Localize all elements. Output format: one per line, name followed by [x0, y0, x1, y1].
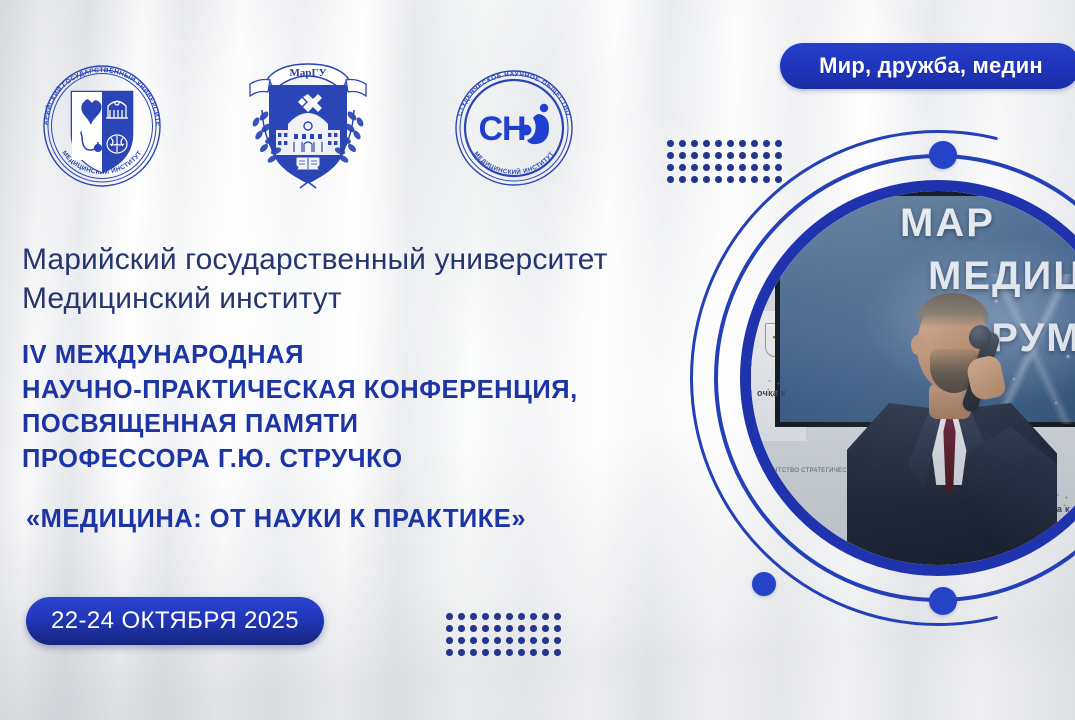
decorative-dot — [446, 625, 453, 632]
margu-coat-of-arms-logo: МарГУ — [242, 40, 374, 192]
decorative-dot — [470, 649, 477, 656]
decorative-dot — [494, 649, 501, 656]
conference-subtitle: «МЕДИЦИНА: ОТ НАУКИ К ПРАКТИКЕ» — [26, 505, 726, 534]
photo-screen-text-1: МАР — [900, 201, 995, 246]
decorative-dot — [530, 649, 537, 656]
decorative-dot — [679, 176, 686, 183]
decorative-dot — [518, 625, 525, 632]
organization-line-1: Марийский государственный университет — [22, 240, 722, 279]
decorative-dot — [446, 613, 453, 620]
decorative-dot — [446, 649, 453, 656]
organization-block: Марийский государственный университет Ме… — [22, 240, 722, 318]
decorative-dot — [506, 637, 513, 644]
decorative-dot — [679, 140, 686, 147]
conference-title: IV МЕЖДУНАРОДНАЯ НАУЧНО-ПРАКТИЧЕСКАЯ КОН… — [22, 338, 742, 477]
decorative-dot — [554, 625, 561, 632]
decorative-dot — [518, 637, 525, 644]
title-line-2: НАУЧНО-ПРАКТИЧЕСКАЯ КОНФЕРЕНЦИЯ, — [22, 373, 742, 408]
decorative-dot — [446, 637, 453, 644]
photo-speaker-ear — [911, 335, 924, 355]
margu-medical-institute-logo: МАРИЙСКИЙ ГОСУДАРСТВЕННЫЙ УНИВЕРСИТЕТ МЕ… — [32, 56, 172, 196]
decorative-dot — [482, 625, 489, 632]
decorative-dot — [542, 625, 549, 632]
decorative-dot — [470, 637, 477, 644]
decorative-dot — [482, 613, 489, 620]
decorative-dot — [667, 152, 674, 159]
decorative-dot — [470, 613, 477, 620]
decorative-dot — [542, 637, 549, 644]
speaker-photo: МАР МЕДИЦ ФОРУМ очка к очка к АГЕНТСТВО … — [751, 191, 1075, 565]
decorative-dot — [679, 152, 686, 159]
decorative-dot — [667, 140, 674, 147]
decorative-dot — [506, 625, 513, 632]
title-line-3: ПОСВЯЩЕННАЯ ПАМЯТИ — [22, 407, 742, 442]
svg-text:МарГУ: МарГУ — [289, 67, 326, 79]
decorative-dot — [518, 613, 525, 620]
decorative-dot — [482, 637, 489, 644]
decorative-dot-grid-bottom — [446, 613, 561, 656]
decorative-dot-top — [929, 141, 957, 169]
organization-line-2: Медицинский институт — [22, 279, 722, 318]
decorative-dot — [458, 625, 465, 632]
sno-logo: СТУДЕНЧЕСКОЕ НАУЧНОЕ ОБЩЕСТВО МЕДИЦИНСКИ… — [444, 62, 584, 194]
decorative-dot — [530, 613, 537, 620]
photo-sponsor-label-left: очка к — [757, 387, 786, 401]
svg-text:СН: СН — [478, 110, 525, 148]
decorative-dot — [506, 613, 513, 620]
decorative-dot — [554, 649, 561, 656]
decorative-dot — [482, 649, 489, 656]
decorative-dot — [679, 164, 686, 171]
decorative-dot — [470, 625, 477, 632]
conference-poster: МАРИЙСКИЙ ГОСУДАРСТВЕННЫЙ УНИВЕРСИТЕТ МЕ… — [0, 0, 1075, 720]
decorative-dot — [530, 625, 537, 632]
decorative-dot — [554, 637, 561, 644]
decorative-dot — [542, 613, 549, 620]
decorative-dot — [530, 637, 537, 644]
title-line-1: IV МЕЖДУНАРОДНАЯ — [22, 338, 742, 373]
title-line-4: ПРОФЕССОРА Г.Ю. СТРУЧКО — [22, 442, 742, 477]
decorative-dot — [667, 176, 674, 183]
decorative-dot — [554, 613, 561, 620]
decorative-dot — [518, 649, 525, 656]
decorative-dot-bottom — [929, 587, 957, 615]
logo-row: МАРИЙСКИЙ ГОСУДАРСТВЕННЫЙ УНИВЕРСИТЕТ МЕ… — [0, 0, 620, 210]
speaker-photo-cluster: МАР МЕДИЦ ФОРУМ очка к очка к АГЕНТСТВО … — [688, 128, 1075, 628]
decorative-dot — [494, 625, 501, 632]
slogan-badge[interactable]: Мир, дружба, медин — [780, 43, 1075, 89]
photo-speaker-hair — [917, 293, 989, 327]
decorative-dot — [542, 649, 549, 656]
decorative-dot — [667, 164, 674, 171]
decorative-dot — [458, 637, 465, 644]
date-badge-label: 22-24 ОКТЯБРЯ 2025 — [51, 607, 299, 635]
decorative-dot — [506, 649, 513, 656]
decorative-dot-left — [752, 572, 776, 596]
photo-speaker — [847, 287, 1057, 565]
decorative-dot — [458, 613, 465, 620]
slogan-badge-label: Мир, дружба, медин — [819, 53, 1043, 79]
decorative-dot — [494, 637, 501, 644]
subtitle-text: «МЕДИЦИНА: ОТ НАУКИ К ПРАКТИКЕ» — [26, 505, 726, 534]
decorative-dot — [458, 649, 465, 656]
decorative-dot — [494, 613, 501, 620]
date-badge[interactable]: 22-24 ОКТЯБРЯ 2025 — [26, 597, 324, 645]
